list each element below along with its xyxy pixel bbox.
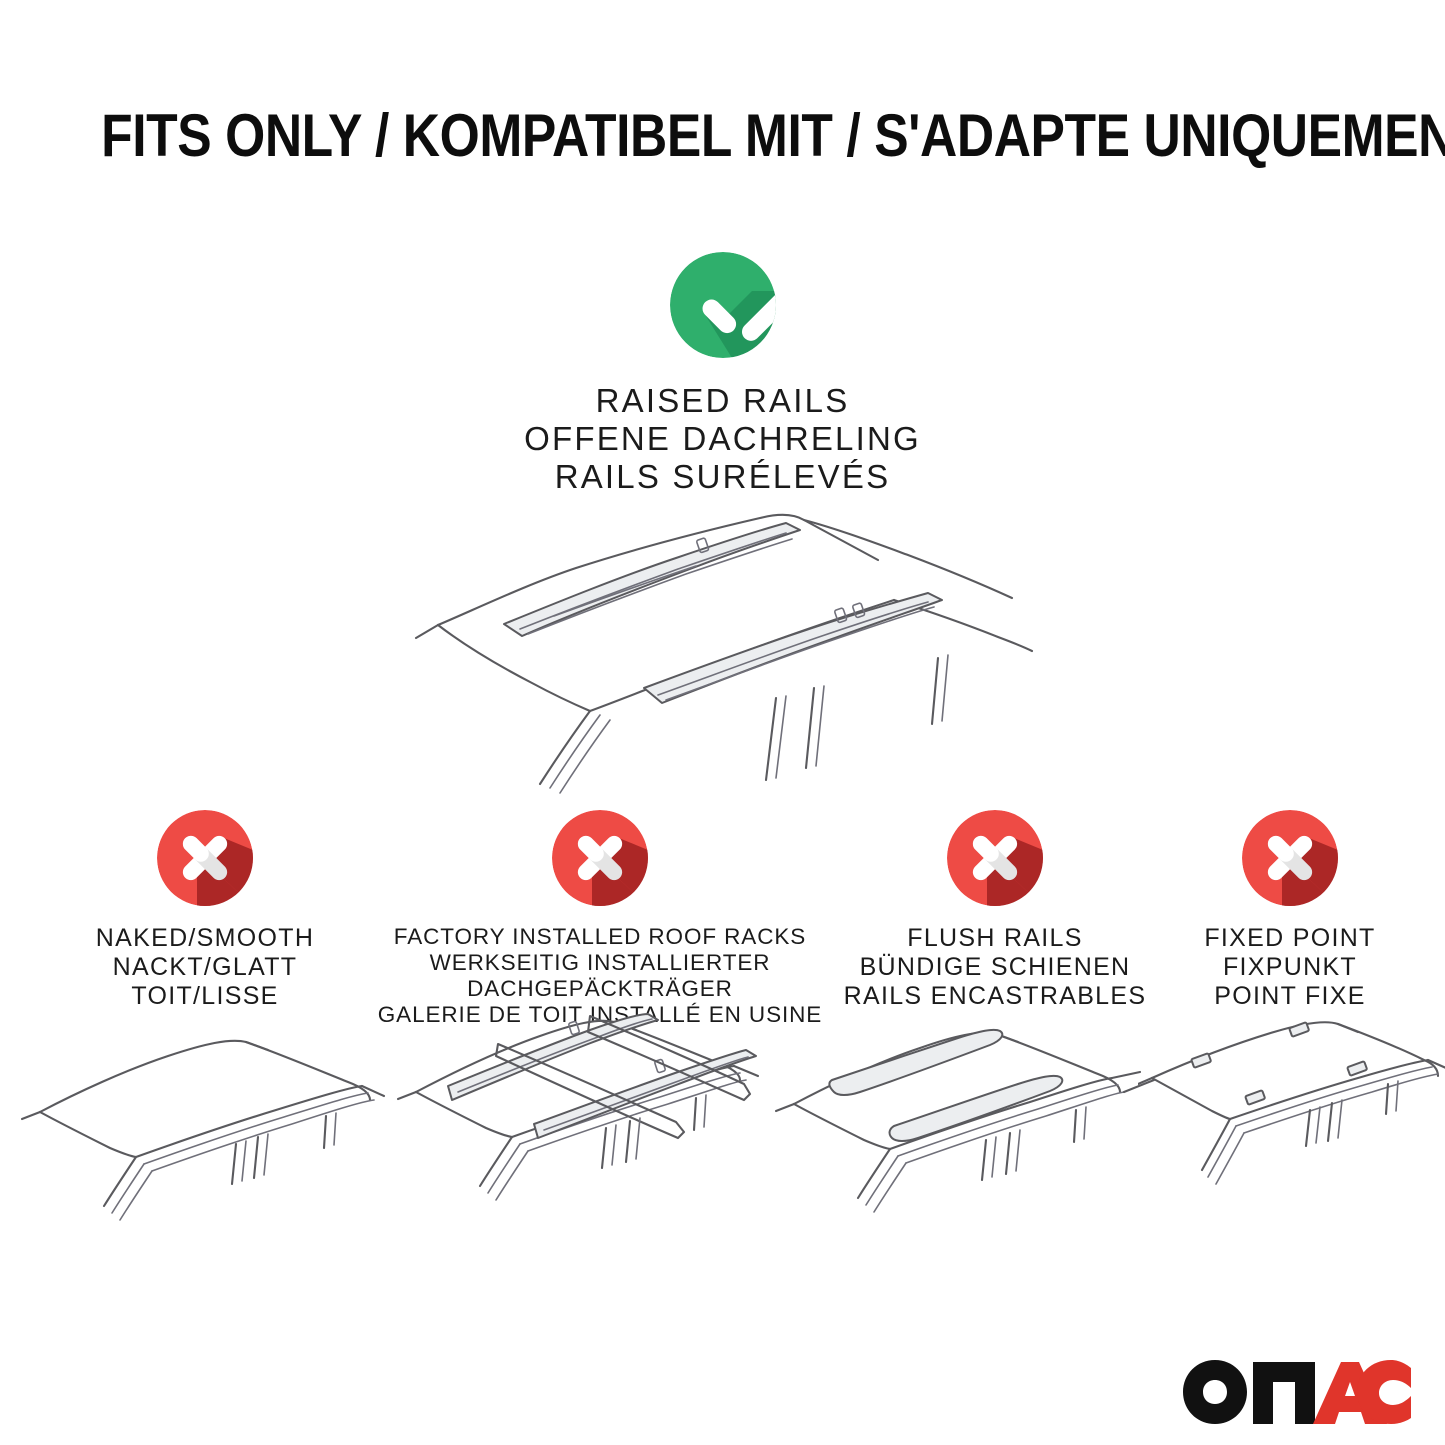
check-circle-icon (670, 252, 776, 358)
rejected-label-line-en: FIXED POINT (1150, 924, 1430, 953)
compatibility-rejected-item-naked-smooth: NAKED/SMOOTH NACKT/GLATT TOIT/LISSE (25, 810, 385, 1011)
rejected-label-line-fr: POINT FIXE (1150, 982, 1430, 1011)
rejected-label-line-en: FLUSH RAILS (775, 924, 1215, 953)
approved-label-line-de: OFFENE DACHRELING (0, 420, 1445, 458)
car-roof-raised-rails-illustration (408, 492, 1048, 802)
approved-label: RAISED RAILS OFFENE DACHRELING RAILS SUR… (0, 382, 1445, 496)
rejected-label-line-en: NAKED/SMOOTH (25, 924, 385, 953)
approved-label-line-en: RAISED RAILS (0, 382, 1445, 420)
rejected-label-fixed-point: FIXED POINT FIXPUNKT POINT FIXE (1150, 924, 1430, 1011)
car-roof-flush-rails-illustration (768, 1018, 1160, 1256)
compatibility-rejected-item-flush-rails: FLUSH RAILS BÜNDIGE SCHIENEN RAILS ENCAS… (775, 810, 1215, 1011)
compatibility-rejected-item-fixed-point: FIXED POINT FIXPUNKT POINT FIXE (1150, 810, 1430, 1011)
rejected-label-naked-smooth: NAKED/SMOOTH NACKT/GLATT TOIT/LISSE (25, 924, 385, 1011)
rejected-label-line-de: NACKT/GLATT (25, 953, 385, 982)
car-roof-factory-roof-racks-illustration (392, 1008, 772, 1256)
rejected-label-line-de: FIXPUNKT (1150, 953, 1430, 982)
rejected-label-line-fr: RAILS ENCASTRABLES (775, 982, 1215, 1011)
x-circle-icon (1242, 810, 1338, 906)
rejected-label-line-fr: TOIT/LISSE (25, 982, 385, 1011)
approved-label-line-fr: RAILS SURÉLEVÉS (0, 458, 1445, 496)
rejected-label-line-de: BÜNDIGE SCHIENEN (775, 953, 1215, 982)
rejected-label-line-en: FACTORY INSTALLED ROOF RACKS (365, 924, 835, 950)
rejected-label-line-de-2: DACHGEPÄCKTRÄGER (365, 976, 835, 1002)
page-title: FITS ONLY / KOMPATIBEL MIT / S'ADAPTE UN… (101, 104, 1344, 168)
x-circle-icon (552, 810, 648, 906)
x-circle-icon (157, 810, 253, 906)
x-circle-icon (947, 810, 1043, 906)
rejected-label-flush-rails: FLUSH RAILS BÜNDIGE SCHIENEN RAILS ENCAS… (775, 924, 1215, 1011)
compatibility-approved-item: RAISED RAILS OFFENE DACHRELING RAILS SUR… (0, 252, 1445, 496)
compatibility-rejected-item-factory-roof-racks: FACTORY INSTALLED ROOF RACKS WERKSEITIG … (365, 810, 835, 1028)
omac-logo (1183, 1358, 1413, 1424)
rejected-label-line-de-1: WERKSEITIG INSTALLIERTER (365, 950, 835, 976)
car-roof-naked-smooth-illustration (18, 1020, 390, 1255)
car-roof-fixed-point-illustration (1138, 1018, 1445, 1256)
